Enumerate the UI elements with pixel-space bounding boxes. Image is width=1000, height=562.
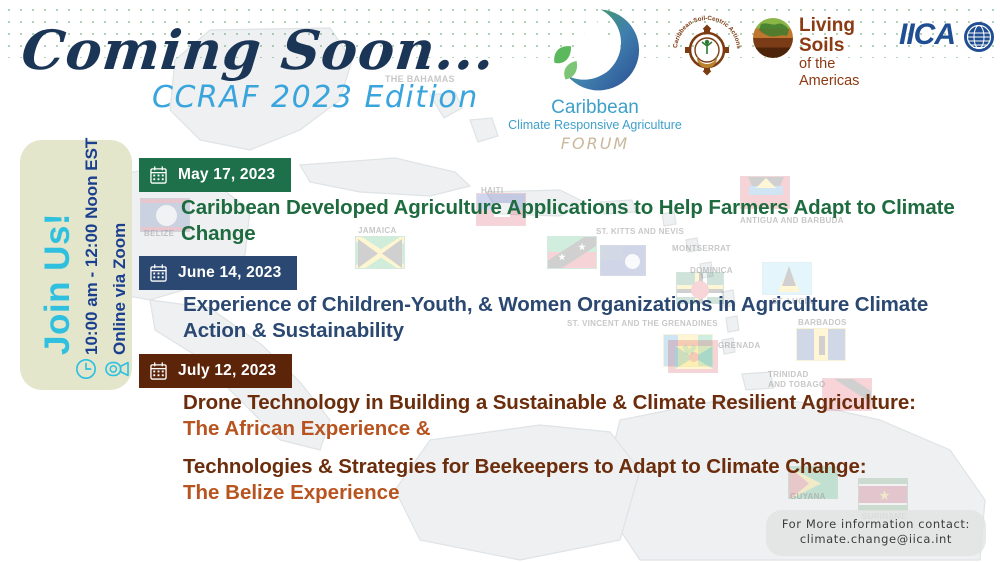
iica-logo: IICA xyxy=(899,20,999,60)
living-soils-line2: of the Americas xyxy=(799,56,893,89)
flag-montserrat xyxy=(600,245,646,276)
join-us-panel: Join Us! 10:00 am - 12:00 Noon EST Onlin… xyxy=(20,140,132,390)
event-time-text: 10:00 am - 12:00 Noon EST xyxy=(82,138,102,355)
video-camera-icon xyxy=(104,358,130,380)
living-soils-globe-icon xyxy=(753,18,793,58)
date-badge-event-2: June 14, 2023 xyxy=(139,256,297,290)
event-3-title: Drone Technology in Building a Sustainab… xyxy=(183,390,973,416)
caribbean-soil-centric-actions-logo: Caribbean Soil-Centric Actions xyxy=(665,8,749,74)
event-4-subtitle: The Belize Experience xyxy=(183,480,973,506)
event-4-title: Technologies & Strategies for Beekeepers… xyxy=(183,454,973,480)
iica-globe-icon xyxy=(963,21,995,53)
country-label: TRINIDAD xyxy=(768,370,809,379)
edition-subtitle: CCRAF 2023 Edition xyxy=(152,80,479,115)
ccraf-logo-line3: FORUM xyxy=(505,134,685,153)
contact-info-box: For More information contact: climate.ch… xyxy=(766,510,986,556)
logo-row: Caribbean Climate Responsive Agriculture… xyxy=(495,4,1000,144)
join-us-heading: Join Us! xyxy=(38,213,78,355)
country-label: AND TOBAGO xyxy=(768,380,826,389)
contact-line-2: climate.change@iica.int xyxy=(782,532,970,548)
ccraf-logo-line2: Climate Responsive Agriculture xyxy=(505,119,685,133)
page-title: Coming Soon... xyxy=(19,18,499,82)
calendar-icon xyxy=(150,362,167,380)
ccraf-droplet-icon xyxy=(549,4,641,96)
country-label: BELIZE xyxy=(144,229,174,238)
clock-icon xyxy=(75,358,97,380)
country-label: HAITI xyxy=(481,186,503,195)
event-2-date: June 14, 2023 xyxy=(178,264,281,282)
event-1-title: Caribbean Developed Agriculture Applicat… xyxy=(181,195,971,247)
event-mode-text: Online via Zoom xyxy=(110,223,130,355)
date-badge-event-1: May 17, 2023 xyxy=(139,158,291,192)
calendar-icon xyxy=(150,264,167,282)
living-soils-of-the-americas-logo: Living Soils of the Americas xyxy=(753,16,893,64)
calendar-icon xyxy=(150,166,167,184)
event-3-date: July 12, 2023 xyxy=(178,362,276,380)
iica-wordmark: IICA xyxy=(899,18,955,52)
contact-line-1: For More information contact: xyxy=(782,517,970,533)
country-label: DOMINICA xyxy=(690,266,733,275)
living-soils-wordmark: Living Soils of the Americas xyxy=(799,16,893,89)
event-2-title: Experience of Children-Youth, & Women Or… xyxy=(183,292,943,344)
ccraf-logo: Caribbean Climate Responsive Agriculture… xyxy=(505,4,685,153)
flag-grenada xyxy=(668,340,718,373)
event-3-subtitle: The African Experience & xyxy=(183,416,973,442)
flag-st-lucia xyxy=(762,262,812,295)
poster-canvas: THE BAHAMASBELIZEHAITIJAMAICAST. KITTS A… xyxy=(0,0,1000,562)
event-1-date: May 17, 2023 xyxy=(178,166,275,184)
ccraf-logo-line1: Caribbean xyxy=(505,98,685,119)
living-soils-line1: Living Soils xyxy=(799,16,893,56)
date-badge-event-3: July 12, 2023 xyxy=(139,354,292,388)
